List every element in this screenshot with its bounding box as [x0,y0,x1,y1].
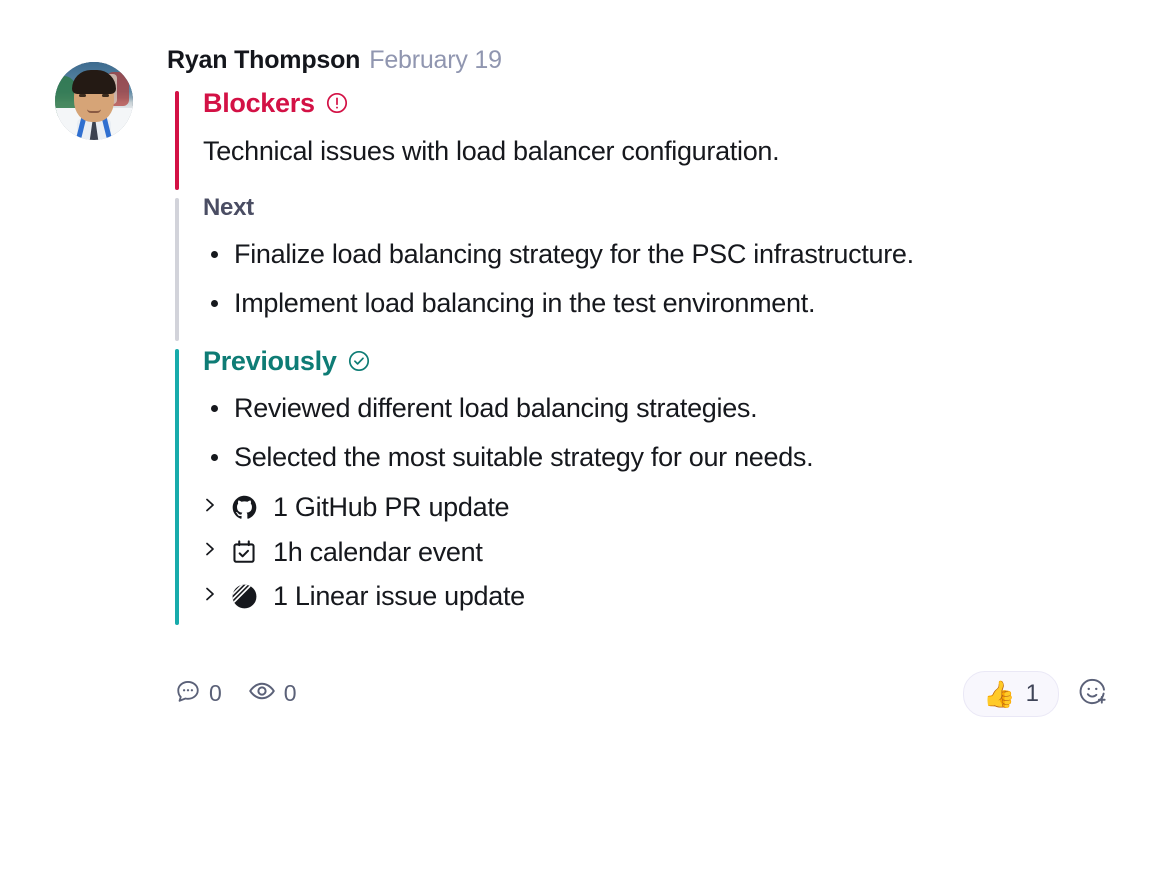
integration-label: 1h calendar event [273,536,483,568]
section-heading-previously: Previously [203,345,1120,377]
list-item: Implement load balancing in the test env… [203,286,1120,321]
reaction-count: 1 [1026,680,1039,708]
avatar-mouth [87,109,101,113]
section-title: Blockers [203,87,315,119]
github-icon [231,494,261,521]
section-accent-bar [175,91,179,190]
section-previously: Previously Reviewed different load balan… [167,345,1120,629]
comment-count: 0 [209,680,222,707]
section-heading-next: Next [203,194,1120,223]
section-blockers: Blockers Technical issues with load bala… [167,87,1120,194]
author-name[interactable]: Ryan Thompson [167,48,360,73]
list-item: Finalize load balancing strategy for the… [203,237,1120,272]
thumbs-up-icon: 👍 [983,681,1015,707]
view-count: 0 [284,680,297,707]
next-items-list: Finalize load balancing strategy for the… [203,237,1120,321]
post-footer: 0 0 👍 1 [167,671,1120,717]
check-circle-icon [347,349,371,373]
avatar[interactable] [55,62,133,140]
section-accent-bar [175,198,179,341]
integration-row-calendar[interactable]: 1h calendar event [203,536,1120,568]
alert-circle-icon [325,91,349,115]
blockers-body-text: Technical issues with load balancer conf… [203,133,1120,169]
integration-row-github[interactable]: 1 GitHub PR update [203,491,1120,523]
footer-stats: 0 0 [175,677,297,710]
integration-label: 1 Linear issue update [273,580,525,612]
section-title: Previously [203,345,337,377]
reactions-bar: 👍 1 [963,671,1112,717]
integrations-list: 1 GitHub PR update [203,491,1120,612]
avatar-hair [72,70,116,94]
calendar-icon [231,539,261,565]
chevron-right-icon[interactable] [203,495,219,520]
section-accent-bar [175,349,179,625]
post-content: Ryan Thompson February 19 Blockers Techn… [167,48,1120,890]
view-count-button[interactable]: 0 [248,677,297,710]
add-reaction-button[interactable] [1073,672,1112,716]
previously-items-list: Reviewed different load balancing strate… [203,391,1120,475]
reaction-thumbsup-pill[interactable]: 👍 1 [963,671,1059,717]
section-next: Next Finalize load balancing strategy fo… [167,194,1120,345]
list-item: Reviewed different load balancing strate… [203,391,1120,426]
status-update-card: Ryan Thompson February 19 Blockers Techn… [0,0,1160,890]
list-item: Selected the most suitable strategy for … [203,440,1120,475]
add-reaction-smiley-icon[interactable] [1077,676,1108,712]
chevron-right-icon[interactable] [203,584,219,609]
avatar-eye-left [79,94,86,97]
avatar-eye-right [102,94,109,97]
eye-icon[interactable] [248,677,276,710]
chevron-right-icon[interactable] [203,539,219,564]
integration-label: 1 GitHub PR update [273,491,509,523]
integration-row-linear[interactable]: 1 Linear issue update [203,580,1120,612]
section-heading-blockers: Blockers [203,87,1120,119]
comment-count-button[interactable]: 0 [175,678,222,709]
post-date: February 19 [369,48,502,73]
byline: Ryan Thompson February 19 [167,48,1120,73]
linear-icon [231,583,261,610]
comment-icon[interactable] [175,678,201,709]
section-title: Next [203,194,254,223]
